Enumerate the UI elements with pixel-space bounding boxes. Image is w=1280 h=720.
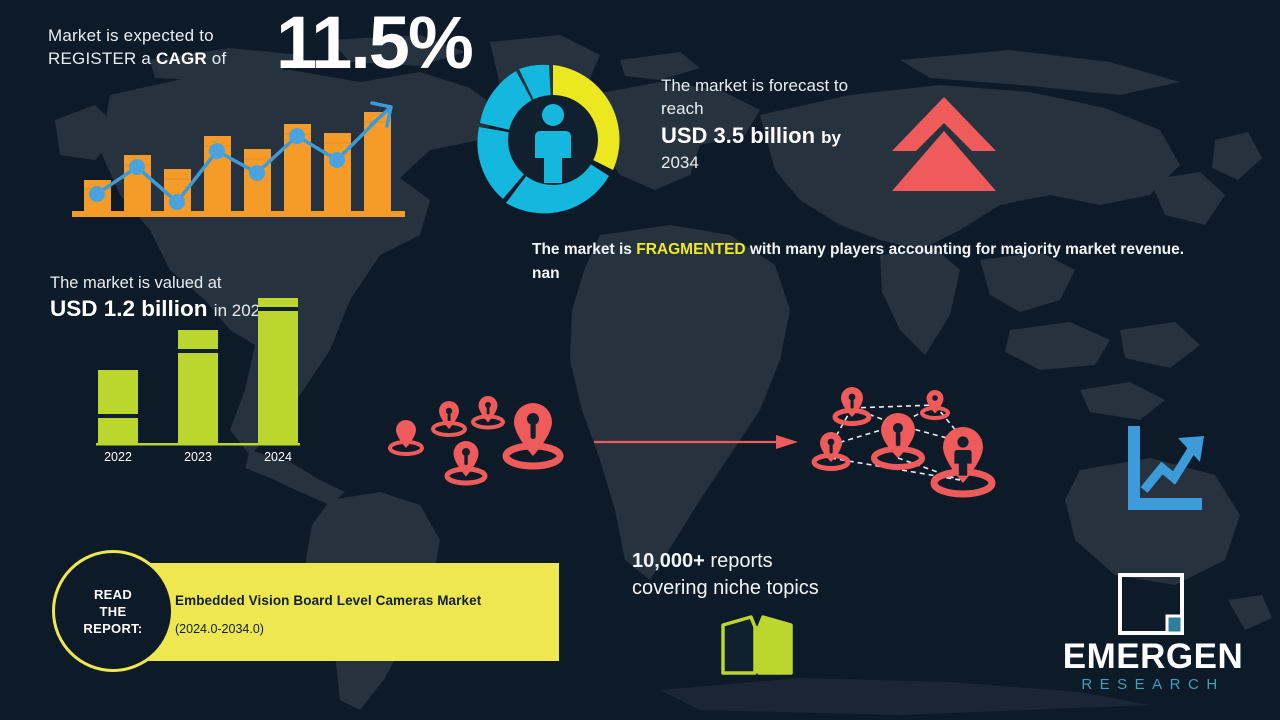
cagr-description: Market is expected to REGISTER a CAGR of bbox=[48, 24, 268, 70]
pin-cluster-scattered bbox=[385, 388, 585, 498]
forecast-line1: The market is forecast to bbox=[661, 74, 886, 97]
report-year-range: (2024.0-2034.0) bbox=[175, 622, 264, 636]
report-title: Embedded Vision Board Level Cameras Mark… bbox=[175, 593, 481, 608]
forecast-value: USD 3.5 billion bbox=[661, 123, 815, 148]
read-the-report-banner[interactable]: Embedded Vision Board Level Cameras Mark… bbox=[147, 563, 559, 661]
reports-count-line2: covering niche topics bbox=[632, 575, 892, 602]
pin-cluster-networked bbox=[808, 383, 1023, 505]
cagr-line2-post: of bbox=[207, 49, 227, 68]
open-book-icon bbox=[718, 613, 796, 677]
market-value-bar-chart: 2022 2023 2024 bbox=[78, 295, 328, 475]
growth-chart-icon bbox=[1122, 424, 1208, 516]
read-the-report-label: READ THE REPORT: bbox=[83, 586, 142, 637]
bar-label-2022: 2022 bbox=[88, 450, 148, 464]
market-share-donut-chart bbox=[468, 55, 638, 225]
bar-label-2023: 2023 bbox=[168, 450, 228, 464]
bar-label-2024: 2024 bbox=[248, 450, 308, 464]
fragmentation-statement: The market is FRAGMENTED with many playe… bbox=[532, 238, 1212, 286]
cagr-bold-word: CAGR bbox=[156, 49, 207, 68]
logo-name: EMERGEN bbox=[1053, 638, 1253, 676]
forecast-value-row: USD 3.5 billion by bbox=[661, 122, 886, 152]
reports-count-line1: 10,000+ reports bbox=[632, 548, 892, 575]
map-pin-icon bbox=[390, 420, 422, 454]
bar-2022 bbox=[98, 370, 138, 443]
forecast-line2: reach bbox=[661, 97, 886, 120]
read-the-report-badge[interactable]: READ THE REPORT: bbox=[52, 550, 174, 672]
map-pin-icon bbox=[922, 390, 948, 418]
forecast-by: by bbox=[821, 128, 841, 147]
cagr-line2-pre: REGISTER a bbox=[48, 49, 156, 68]
valued-label: The market is valued at bbox=[50, 272, 310, 294]
forecast-year: 2034 bbox=[661, 152, 886, 174]
right-arrow-icon bbox=[592, 430, 802, 454]
badge-line1: READ bbox=[94, 587, 132, 602]
emergen-research-logo: EMERGEN RESEARCH bbox=[1053, 572, 1253, 697]
reports-count-word: reports bbox=[705, 550, 773, 572]
reports-count-number: 10,000+ bbox=[632, 550, 705, 572]
double-up-arrow-icon bbox=[888, 93, 1000, 195]
growth-bar-chart bbox=[66, 85, 411, 220]
badge-line3: REPORT: bbox=[83, 621, 142, 636]
cagr-value: 11.5% bbox=[276, 0, 472, 88]
logo-mark-icon bbox=[1117, 572, 1185, 636]
bar-2024 bbox=[258, 298, 298, 443]
infographic-canvas: Market is expected to REGISTER a CAGR of… bbox=[0, 0, 1280, 720]
fragmented-pre: The market is bbox=[532, 241, 636, 258]
logo-subtitle: RESEARCH bbox=[1053, 676, 1253, 693]
cagr-line1: Market is expected to bbox=[48, 26, 214, 45]
reports-count-block: 10,000+ reports covering niche topics bbox=[632, 548, 892, 602]
forecast-block: The market is forecast to reach USD 3.5 … bbox=[661, 74, 886, 174]
badge-line2: THE bbox=[100, 604, 127, 619]
fragmented-highlight: FRAGMENTED bbox=[636, 241, 745, 258]
bar-2023 bbox=[178, 330, 218, 443]
